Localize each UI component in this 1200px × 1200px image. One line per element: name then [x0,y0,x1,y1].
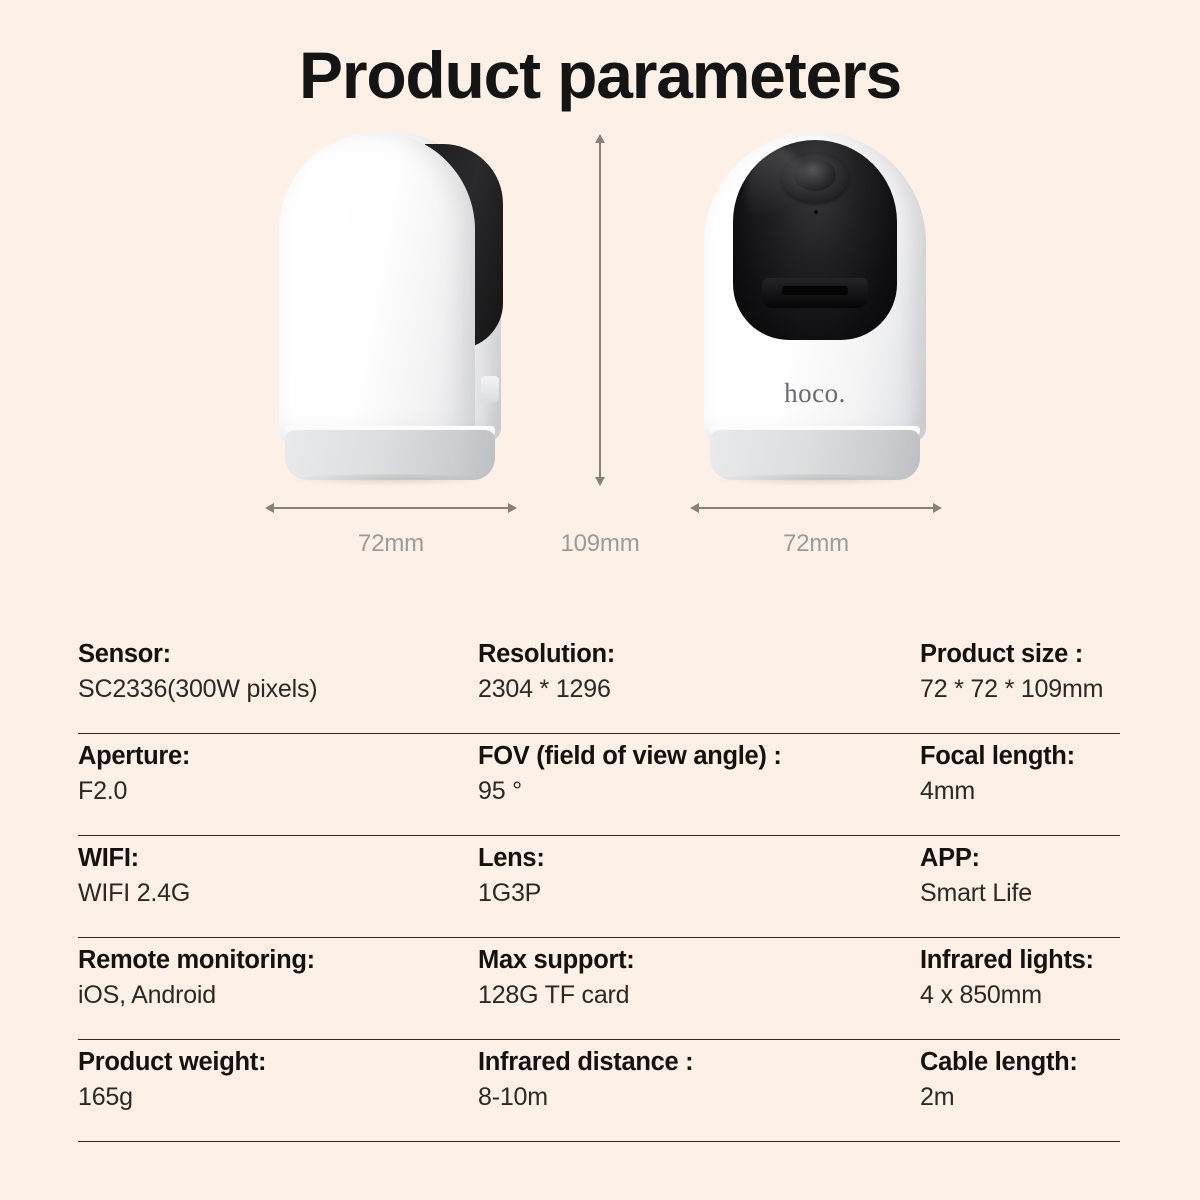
spec-label: Focal length: [920,740,1120,774]
arrowhead-right-icon [508,503,517,513]
spec-label: WIFI: [78,842,478,876]
dimension-label-width-left: 72mm [265,530,517,558]
spec-label: Product size : [920,638,1120,672]
spec-label: APP: [920,842,1120,876]
table-row: Remote monitoring: iOS, Android Max supp… [78,938,1120,1040]
camera-infrared-slot-front [782,286,848,295]
spec-value: 165g [78,1080,478,1114]
dimension-line [697,507,935,509]
arrowhead-right-icon [933,503,942,513]
spec-label: Sensor: [78,638,478,672]
spec-cell-resolution: Resolution: 2304 * 1296 [478,632,920,733]
camera-shadow-front [716,474,914,486]
spec-cell-max-support: Max support: 128G TF card [478,938,920,1039]
dimension-label-height: 109mm [520,530,680,558]
camera-base-front [710,430,920,480]
spec-label: Remote monitoring: [78,944,478,978]
spec-cell-infrared-distance: Infrared distance : 8-10m [478,1040,920,1141]
spec-value: 72 * 72 * 109mm [920,672,1120,706]
product-image-front-view: hoco. [690,126,940,486]
spec-value: WIFI 2.4G [78,876,478,910]
spec-value: 95 ° [478,774,920,808]
camera-shadow-side [291,474,489,486]
table-row: Product weight: 165g Infrared distance :… [78,1040,1120,1142]
spec-cell-remote-monitoring: Remote monitoring: iOS, Android [78,938,478,1039]
camera-base-side [285,430,495,480]
spec-label: Aperture: [78,740,478,774]
dimension-arrow-width-left [265,501,517,515]
spec-label: Cable length: [920,1046,1120,1080]
spec-value: 1G3P [478,876,920,910]
spec-value: Smart Life [920,876,1120,910]
spec-label: Max support: [478,944,920,978]
spec-value: 2304 * 1296 [478,672,920,706]
spec-cell-product-weight: Product weight: 165g [78,1040,478,1141]
dimension-line [272,507,510,509]
spec-value: 4mm [920,774,1120,808]
page-title: Product parameters [0,0,1200,108]
spec-value: 8-10m [478,1080,920,1114]
product-showcase: hoco. 72mm 109mm 72mm [0,126,1200,576]
dimension-arrow-width-right [690,501,942,515]
table-row: Aperture: F2.0 FOV (field of view angle)… [78,734,1120,836]
spec-label: FOV (field of view angle) : [478,740,920,774]
arrowhead-down-icon [595,477,605,486]
spec-value: 128G TF card [478,978,920,1012]
table-row: Sensor: SC2336(300W pixels) Resolution: … [78,632,1120,734]
spec-cell-focal-length: Focal length: 4mm [920,734,1120,835]
spec-cell-product-size: Product size : 72 * 72 * 109mm [920,632,1120,733]
spec-cell-sensor: Sensor: SC2336(300W pixels) [78,632,478,733]
spec-label: Resolution: [478,638,920,672]
spec-cell-cable-length: Cable length: 2m [920,1040,1120,1141]
spec-value: F2.0 [78,774,478,808]
camera-port-side [481,376,499,402]
dimension-label-width-right: 72mm [690,530,942,558]
spec-value: 2m [920,1080,1120,1114]
spec-cell-aperture: Aperture: F2.0 [78,734,478,835]
spec-cell-infrared-lights: Infrared lights: 4 x 850mm [920,938,1120,1039]
spec-label: Lens: [478,842,920,876]
product-image-side-view [265,126,515,486]
spec-cell-app: APP: Smart Life [920,836,1120,937]
spec-value: iOS, Android [78,978,478,1012]
spec-cell-lens: Lens: 1G3P [478,836,920,937]
brand-logo: hoco. [690,378,940,409]
table-row: WIFI: WIFI 2.4G Lens: 1G3P APP: Smart Li… [78,836,1120,938]
spec-label: Infrared lights: [920,944,1120,978]
camera-highlight-side [305,154,351,344]
spec-cell-wifi: WIFI: WIFI 2.4G [78,836,478,937]
spec-value: 4 x 850mm [920,978,1120,1012]
dimension-line [599,141,601,479]
camera-microphone-front [814,210,818,214]
spec-value: SC2336(300W pixels) [78,672,478,706]
spec-cell-fov: FOV (field of view angle) : 95 ° [478,734,920,835]
camera-dome-gloss-front [746,146,806,236]
dimension-arrow-height [593,134,607,486]
spec-label: Product weight: [78,1046,478,1080]
specifications-table: Sensor: SC2336(300W pixels) Resolution: … [78,632,1120,1142]
spec-label: Infrared distance : [478,1046,920,1080]
